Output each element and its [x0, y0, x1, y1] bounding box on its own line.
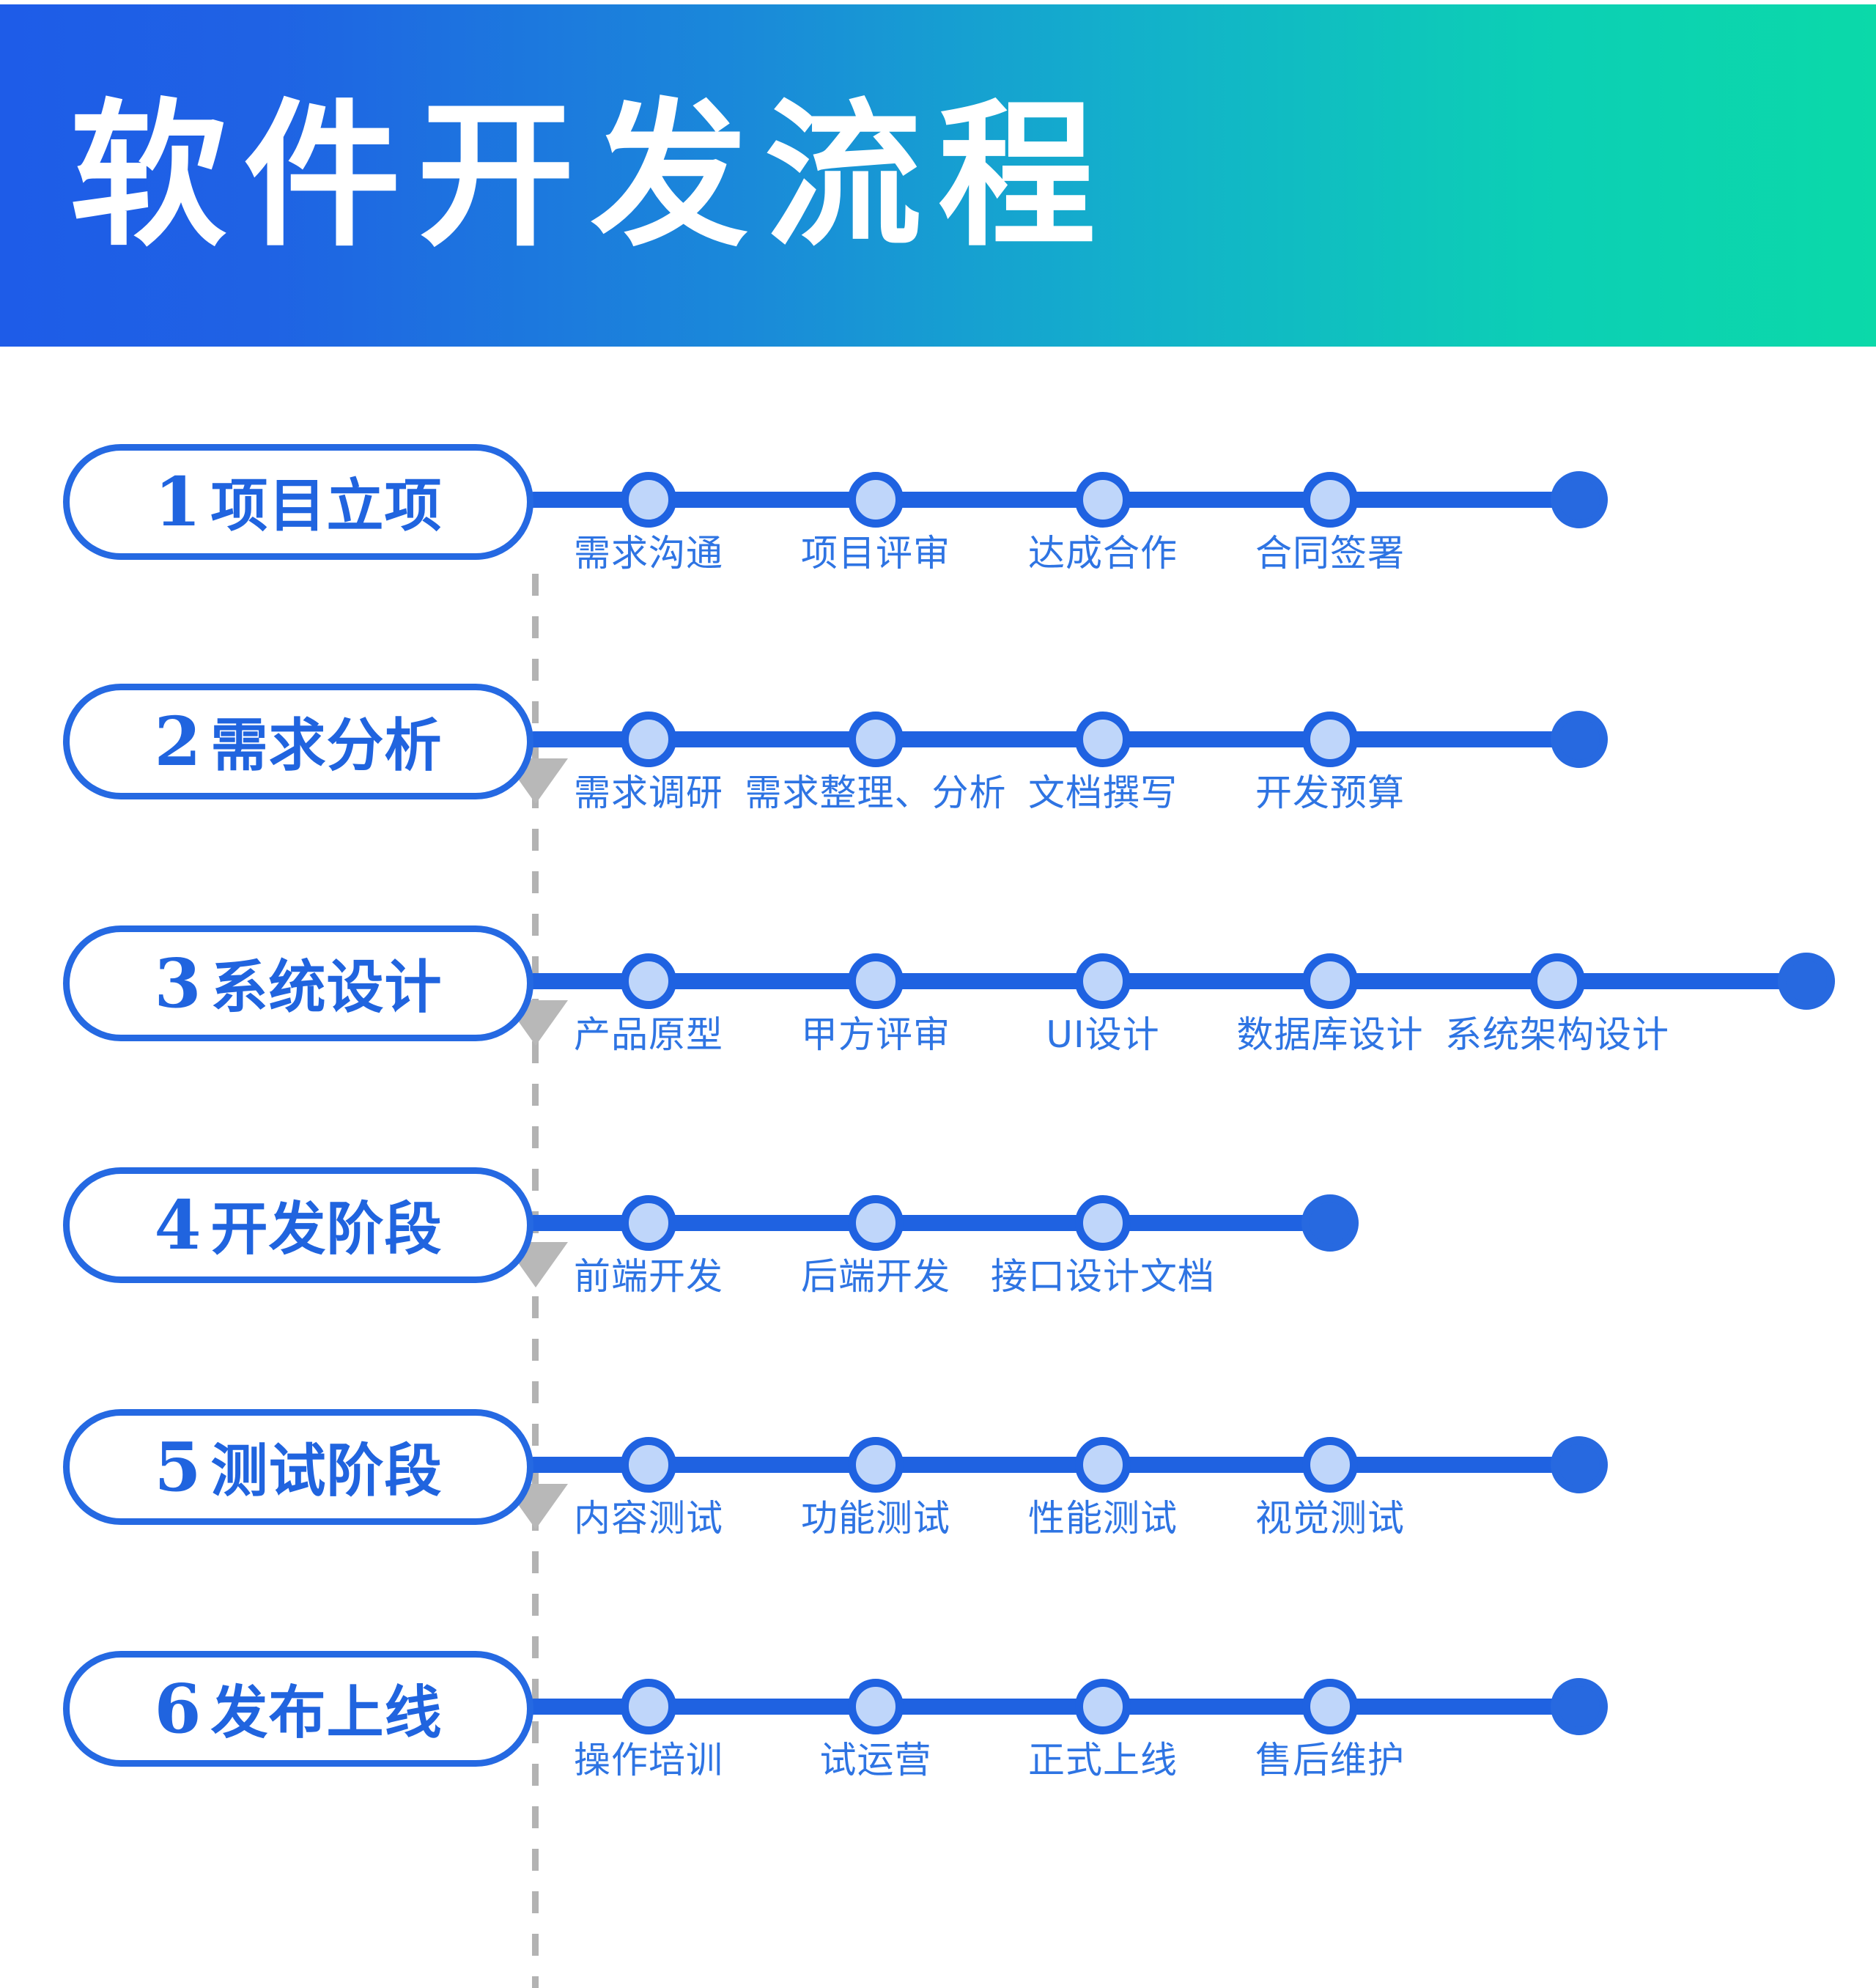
- step-label: 需求沟通: [574, 535, 723, 572]
- step-node-end[interactable]: [1551, 1678, 1608, 1735]
- stage-number-3: 3: [154, 944, 202, 1023]
- step-node[interactable]: [848, 953, 904, 1009]
- step-node[interactable]: [1529, 953, 1585, 1009]
- stage-name-4: 开发阶段: [211, 1197, 443, 1263]
- stage-track-5: [532, 1457, 1583, 1473]
- stage-pill-4[interactable]: 4开发阶段: [63, 1167, 533, 1283]
- flow-diagram: 1项目立项 需求沟通 项目评审 达成合作 合同签署 2需求分析 需求调研 需求整…: [0, 347, 1876, 1854]
- stage-number-6: 6: [154, 1669, 202, 1748]
- step-label: 内容测试: [574, 1500, 723, 1537]
- stage-row: 5测试阶段 内容测试 功能测试 性能测试 视觉测试: [0, 1389, 1876, 1608]
- step-label: 后端开发: [801, 1258, 950, 1295]
- stage-name-6: 发布上线: [211, 1680, 443, 1746]
- step-node[interactable]: [1302, 472, 1358, 528]
- step-label: UI设计: [1046, 1016, 1159, 1053]
- stage-name-1: 项目立项: [211, 473, 443, 539]
- stage-pill-label-1: 1项目立项: [154, 468, 442, 536]
- step-node[interactable]: [1075, 1679, 1131, 1734]
- stage-track-3: [532, 973, 1810, 989]
- stage-pill-label-4: 4开发阶段: [154, 1191, 442, 1259]
- step-label: 前端开发: [574, 1258, 723, 1295]
- step-node[interactable]: [1075, 953, 1131, 1009]
- stage-number-5: 5: [154, 1427, 202, 1507]
- step-label: 操作培训: [574, 1742, 723, 1778]
- step-label: 产品原型: [574, 1016, 723, 1053]
- step-label: 正式上线: [1028, 1742, 1178, 1778]
- stage-row: 4开发阶段 前端开发 后端开发 接口设计文档: [0, 1147, 1876, 1367]
- step-node[interactable]: [621, 712, 676, 767]
- step-node[interactable]: [848, 1437, 904, 1493]
- step-node[interactable]: [848, 712, 904, 767]
- stage-name-5: 测试阶段: [211, 1438, 443, 1504]
- step-node[interactable]: [1075, 1437, 1131, 1493]
- header-banner: 软件开发流程: [0, 4, 1876, 347]
- stage-row: 1项目立项 需求沟通 项目评审 达成合作 合同签署: [0, 424, 1876, 643]
- step-label: 系统架构设计: [1445, 1016, 1669, 1053]
- stage-row: 6发布上线 操作培训 试运营 正式上线 售后维护: [0, 1630, 1876, 1850]
- step-label: 开发预算: [1255, 775, 1405, 811]
- step-node[interactable]: [621, 472, 676, 528]
- step-node[interactable]: [848, 1679, 904, 1734]
- step-label: 甲方评审: [801, 1016, 950, 1053]
- stage-number-2: 2: [154, 702, 202, 781]
- step-node[interactable]: [1302, 712, 1358, 767]
- step-node[interactable]: [1075, 472, 1131, 528]
- step-node[interactable]: [848, 472, 904, 528]
- step-node-end[interactable]: [1301, 1194, 1359, 1252]
- step-label: 性能测试: [1028, 1500, 1178, 1537]
- stage-number-4: 4: [154, 1186, 202, 1265]
- step-label: 售后维护: [1255, 1742, 1405, 1778]
- step-node[interactable]: [621, 1679, 676, 1734]
- stage-pill-label-6: 6发布上线: [154, 1675, 442, 1743]
- step-label: 需求调研: [574, 775, 723, 811]
- stage-pill-label-2: 2需求分析: [154, 708, 442, 775]
- step-label: 项目评审: [801, 535, 950, 572]
- stage-row: 2需求分析 需求调研 需求整理、分析 文档撰写 开发预算: [0, 663, 1876, 883]
- step-node[interactable]: [621, 1195, 676, 1251]
- stage-track-6: [532, 1699, 1583, 1715]
- step-label: 达成合作: [1028, 535, 1178, 572]
- step-node[interactable]: [1075, 712, 1131, 767]
- step-node[interactable]: [1302, 1437, 1358, 1493]
- stage-row: 3系统设计 产品原型 甲方评审 UI设计 数据库设计 系统架构设计: [0, 905, 1876, 1125]
- step-node-end[interactable]: [1778, 953, 1835, 1010]
- stage-name-3: 系统设计: [211, 955, 443, 1021]
- step-label: 视觉测试: [1255, 1500, 1405, 1537]
- step-node-end[interactable]: [1551, 1436, 1608, 1493]
- step-label: 试运营: [820, 1742, 932, 1778]
- stage-number-1: 1: [154, 462, 202, 542]
- step-node[interactable]: [621, 1437, 676, 1493]
- stage-track-2: [532, 731, 1583, 747]
- stage-pill-1[interactable]: 1项目立项: [63, 444, 533, 560]
- step-label: 数据库设计: [1237, 1016, 1424, 1053]
- step-node[interactable]: [621, 953, 676, 1009]
- step-label: 文档撰写: [1028, 775, 1178, 811]
- step-label: 合同签署: [1255, 535, 1405, 572]
- step-node[interactable]: [848, 1195, 904, 1251]
- stage-pill-3[interactable]: 3系统设计: [63, 925, 533, 1041]
- stage-pill-5[interactable]: 5测试阶段: [63, 1409, 533, 1525]
- stage-pill-6[interactable]: 6发布上线: [63, 1651, 533, 1767]
- step-label: 需求整理、分析: [745, 775, 1007, 811]
- step-node[interactable]: [1302, 953, 1358, 1009]
- step-node[interactable]: [1302, 1679, 1358, 1734]
- page-title: 软件开发流程: [70, 97, 1112, 254]
- stage-pill-label-3: 3系统设计: [154, 950, 442, 1017]
- stage-name-2: 需求分析: [211, 713, 443, 779]
- step-node[interactable]: [1075, 1195, 1131, 1251]
- step-node-end[interactable]: [1551, 711, 1608, 768]
- stage-pill-2[interactable]: 2需求分析: [63, 684, 533, 799]
- step-label: 接口设计文档: [991, 1258, 1215, 1295]
- step-node-end[interactable]: [1551, 471, 1608, 528]
- stage-pill-label-5: 5测试阶段: [154, 1433, 442, 1501]
- stage-track-1: [532, 492, 1583, 508]
- step-label: 功能测试: [801, 1500, 950, 1537]
